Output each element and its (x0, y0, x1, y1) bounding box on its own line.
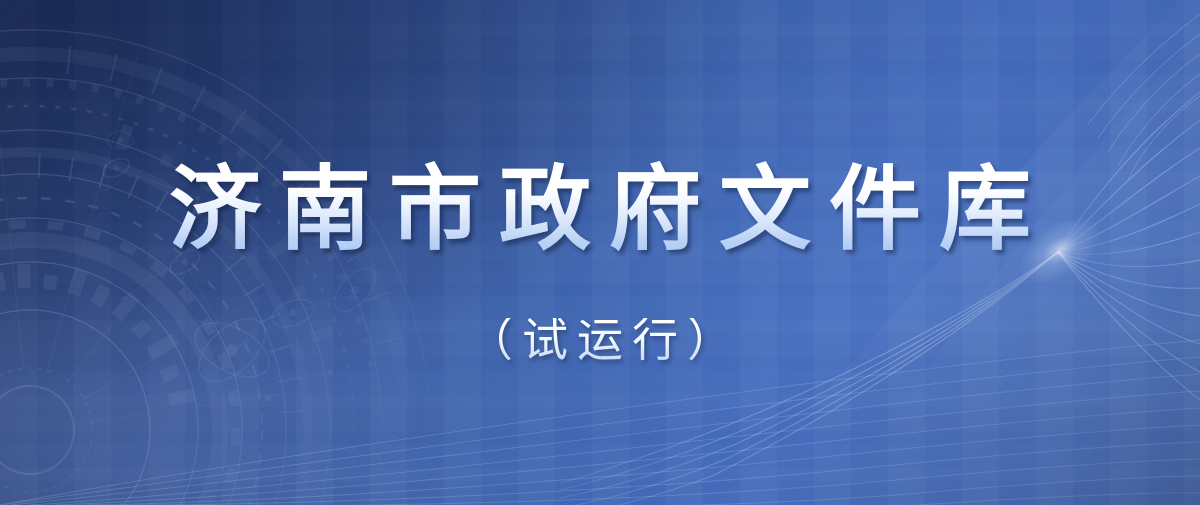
page-subtitle: （试运行） (458, 318, 742, 364)
banner-text-block: 济南市政府文件库 （试运行） (0, 0, 1200, 505)
government-document-library-banner: 济南市政府文件库 （试运行） (0, 0, 1200, 505)
page-title: 济南市政府文件库 (151, 142, 1049, 256)
